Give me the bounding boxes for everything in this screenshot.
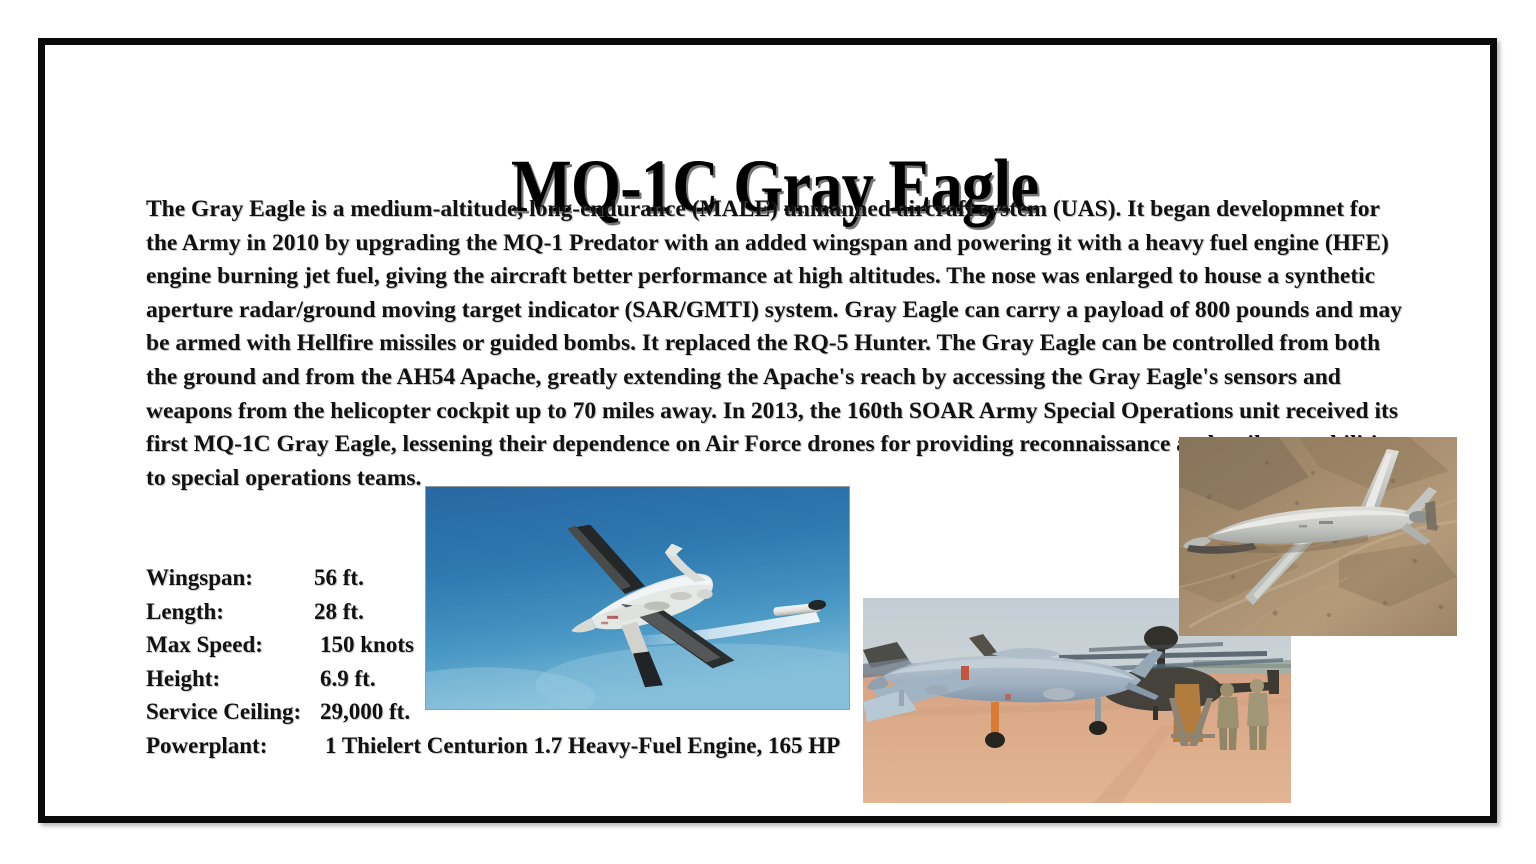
spec-label: Max Speed: xyxy=(146,628,314,662)
spec-label: Height: xyxy=(146,662,314,696)
photo-missile-launch-graphic xyxy=(426,487,849,709)
photo-desert-overflight xyxy=(1179,437,1457,636)
spec-label: Length: xyxy=(146,595,314,629)
slide-canvas: MQ-1C Gray Eagle The Gray Eagle is a med… xyxy=(0,0,1536,864)
spec-value: 1 Thielert Centurion 1.7 Heavy-Fuel Engi… xyxy=(314,729,840,763)
spec-value: 29,000 ft. xyxy=(314,695,410,729)
spec-value: 28 ft. xyxy=(314,595,364,629)
spec-label: Powerplant: xyxy=(146,729,314,763)
spec-label: Service Ceiling: xyxy=(146,695,314,729)
spec-value: 6.9 ft. xyxy=(314,662,376,696)
slide-border-frame: MQ-1C Gray Eagle The Gray Eagle is a med… xyxy=(38,38,1497,823)
photo-desert-graphic xyxy=(1179,437,1457,636)
spec-label: Wingspan: xyxy=(146,561,314,595)
spec-value: 150 knots xyxy=(314,628,414,662)
spec-row-powerplant: Powerplant: 1 Thielert Centurion 1.7 Hea… xyxy=(146,729,840,763)
spec-value: 56 ft. xyxy=(314,561,364,595)
photo-missile-launch xyxy=(425,486,850,710)
